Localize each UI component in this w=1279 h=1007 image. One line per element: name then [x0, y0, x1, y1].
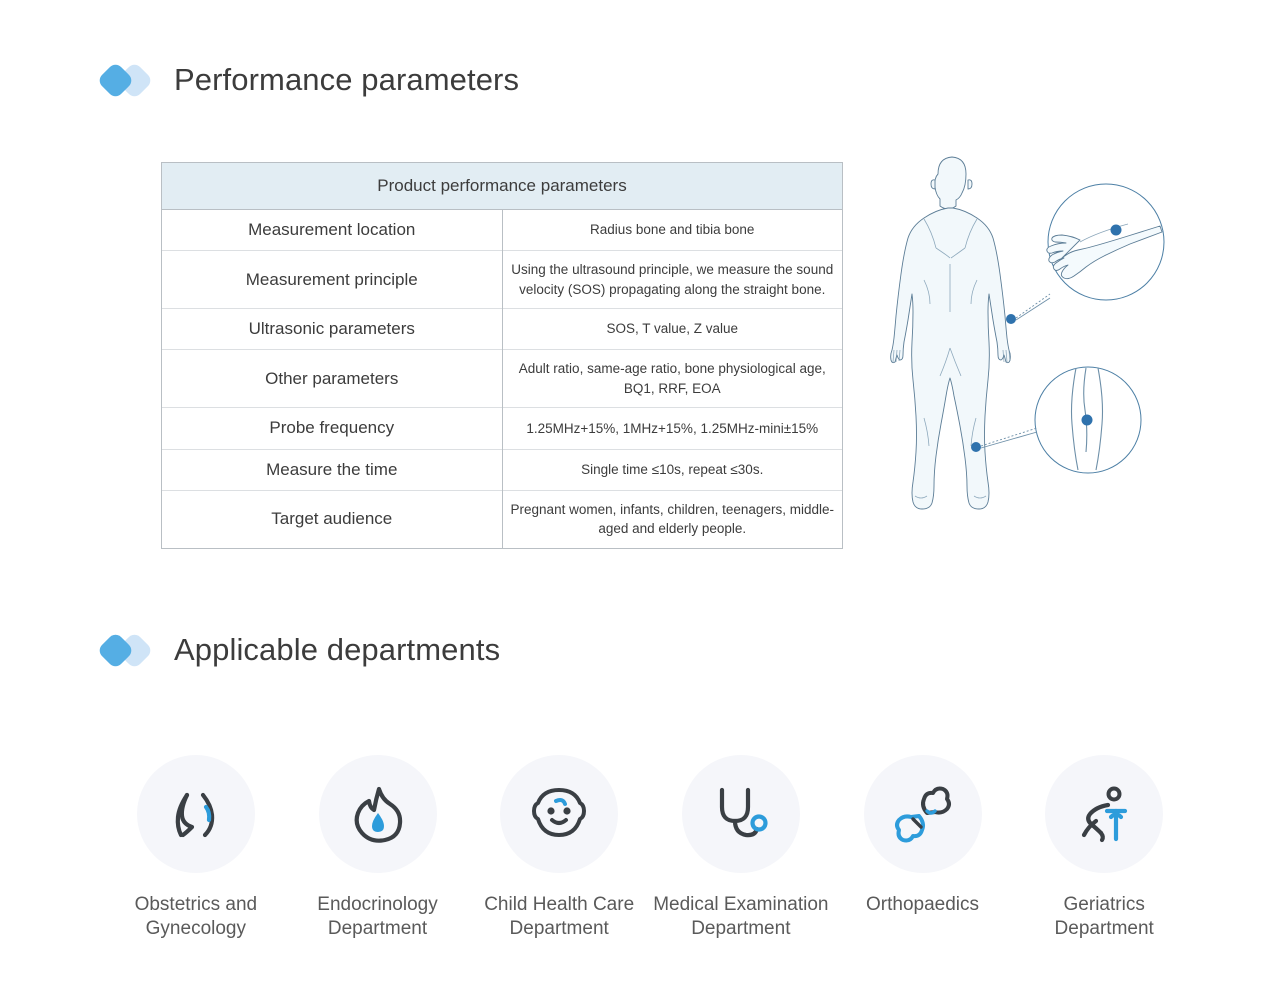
department-item-obstetrics[interactable]: Obstetrics and Gynecology	[105, 755, 287, 940]
stethoscope-icon	[710, 783, 772, 845]
body-site-wrist-marker	[1006, 314, 1016, 324]
table-row: Probe frequency 1.25MHz+15%, 1MHz+15%, 1…	[162, 408, 842, 449]
table-row: Measurement principle Using the ultrasou…	[162, 251, 842, 309]
department-label: Medical Examination Department	[653, 893, 828, 940]
body-site-knee-marker	[971, 442, 981, 452]
table-header-row: Product performance parameters	[162, 163, 842, 210]
table-row: Measurement location Radius bone and tib…	[162, 210, 842, 251]
departments-list: Obstetrics and Gynecology Endocrinology …	[105, 755, 1195, 940]
row-value: SOS, T value, Z value	[502, 309, 842, 350]
row-label: Measure the time	[162, 449, 502, 490]
hair-curl	[556, 800, 565, 804]
performance-parameters-heading: Performance parameters	[100, 62, 519, 98]
department-item-geriatrics[interactable]: Geriatrics Department	[1013, 755, 1195, 940]
department-icon-circle	[1045, 755, 1163, 873]
section-title: Applicable departments	[174, 632, 500, 668]
table-row: Measure the time Single time ≤10s, repea…	[162, 449, 842, 490]
table-row: Ultrasonic parameters SOS, T value, Z va…	[162, 309, 842, 350]
elderly-cane-icon	[1074, 783, 1134, 845]
department-label: Endocrinology Department	[317, 893, 437, 940]
measurement-point-dot	[1111, 225, 1122, 236]
flame-droplet-icon	[349, 783, 407, 845]
row-label: Target audience	[162, 490, 502, 548]
department-icon-circle	[682, 755, 800, 873]
row-value: Radius bone and tibia bone	[502, 210, 842, 251]
applicable-departments-heading: Applicable departments	[100, 632, 500, 668]
knee-tibia-callout	[1035, 367, 1141, 473]
row-label: Measurement location	[162, 210, 502, 251]
department-label: Orthopaedics	[866, 893, 979, 917]
row-label: Probe frequency	[162, 408, 502, 449]
double-diamond-icon	[100, 633, 156, 667]
row-value: Using the ultrasound principle, we measu…	[502, 251, 842, 309]
wrist-radius-callout	[1047, 184, 1164, 300]
department-icon-circle	[319, 755, 437, 873]
chest-piece	[752, 817, 765, 830]
row-label: Other parameters	[162, 350, 502, 408]
human-body-measurement-sites	[880, 152, 1180, 524]
department-item-endocrinology[interactable]: Endocrinology Department	[287, 755, 469, 940]
department-icon-circle	[137, 755, 255, 873]
row-label: Measurement principle	[162, 251, 502, 309]
table-header-title: Product performance parameters	[162, 163, 842, 210]
department-label: Child Health Care Department	[484, 893, 634, 940]
row-value: Pregnant women, infants, children, teena…	[502, 490, 842, 548]
department-item-medical-exam[interactable]: Medical Examination Department	[650, 755, 832, 940]
row-value: Single time ≤10s, repeat ≤30s.	[502, 449, 842, 490]
table-row: Other parameters Adult ratio, same-age r…	[162, 350, 842, 408]
double-diamond-icon	[100, 63, 156, 97]
product-performance-table: Product performance parameters Measureme…	[161, 162, 843, 549]
department-label: Geriatrics Department	[1055, 893, 1154, 940]
department-item-orthopaedics[interactable]: Orthopaedics	[832, 755, 1014, 917]
baby-face-icon	[526, 785, 592, 843]
department-label: Obstetrics and Gynecology	[135, 893, 258, 940]
bone-icon	[891, 783, 955, 845]
row-label: Ultrasonic parameters	[162, 309, 502, 350]
page-title: Performance parameters	[174, 62, 519, 98]
table-row: Target audience Pregnant women, infants,…	[162, 490, 842, 548]
pregnant-belly-icon	[165, 783, 227, 845]
department-icon-circle	[864, 755, 982, 873]
droplet-shape	[372, 813, 384, 832]
department-icon-circle	[500, 755, 618, 873]
measurement-point-dot	[1082, 415, 1093, 426]
row-value: Adult ratio, same-age ratio, bone physio…	[502, 350, 842, 408]
row-value: 1.25MHz+15%, 1MHz+15%, 1.25MHz-mini±15%	[502, 408, 842, 449]
department-item-child-health[interactable]: Child Health Care Department	[468, 755, 650, 940]
